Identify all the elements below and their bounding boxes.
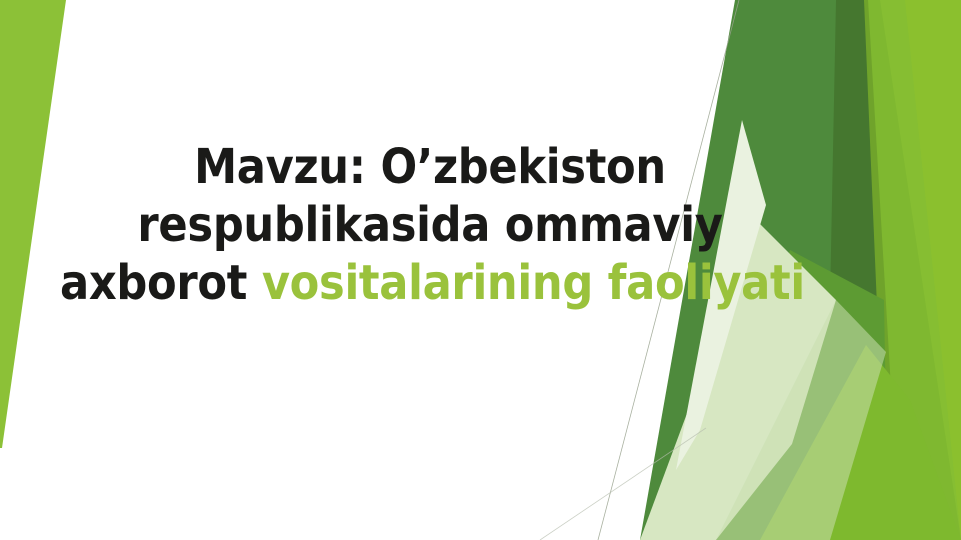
title-line-3-accent: vositalarining faoliyati (262, 255, 805, 311)
right-mid-band (836, 0, 961, 540)
lower-bright-triangle (760, 345, 961, 540)
hairline-diagonal-secondary (540, 428, 706, 540)
right-base-band (836, 0, 961, 540)
title-line-3-plain: axborot (60, 255, 262, 311)
left-wedge-shape (0, 0, 66, 448)
title-line-3: axborot vositalarining faoliyati (60, 254, 800, 312)
pale-facet-lower (716, 300, 886, 540)
title-line-2: respublikasida ommaviy (60, 196, 800, 254)
deep-green-strip (830, 0, 878, 330)
presentation-slide: Mavzu: O’zbekiston respublikasida ommavi… (0, 0, 961, 540)
slide-title: Mavzu: O’zbekiston respublikasida ommavi… (60, 138, 800, 312)
title-line-1: Mavzu: O’zbekiston (60, 138, 800, 196)
